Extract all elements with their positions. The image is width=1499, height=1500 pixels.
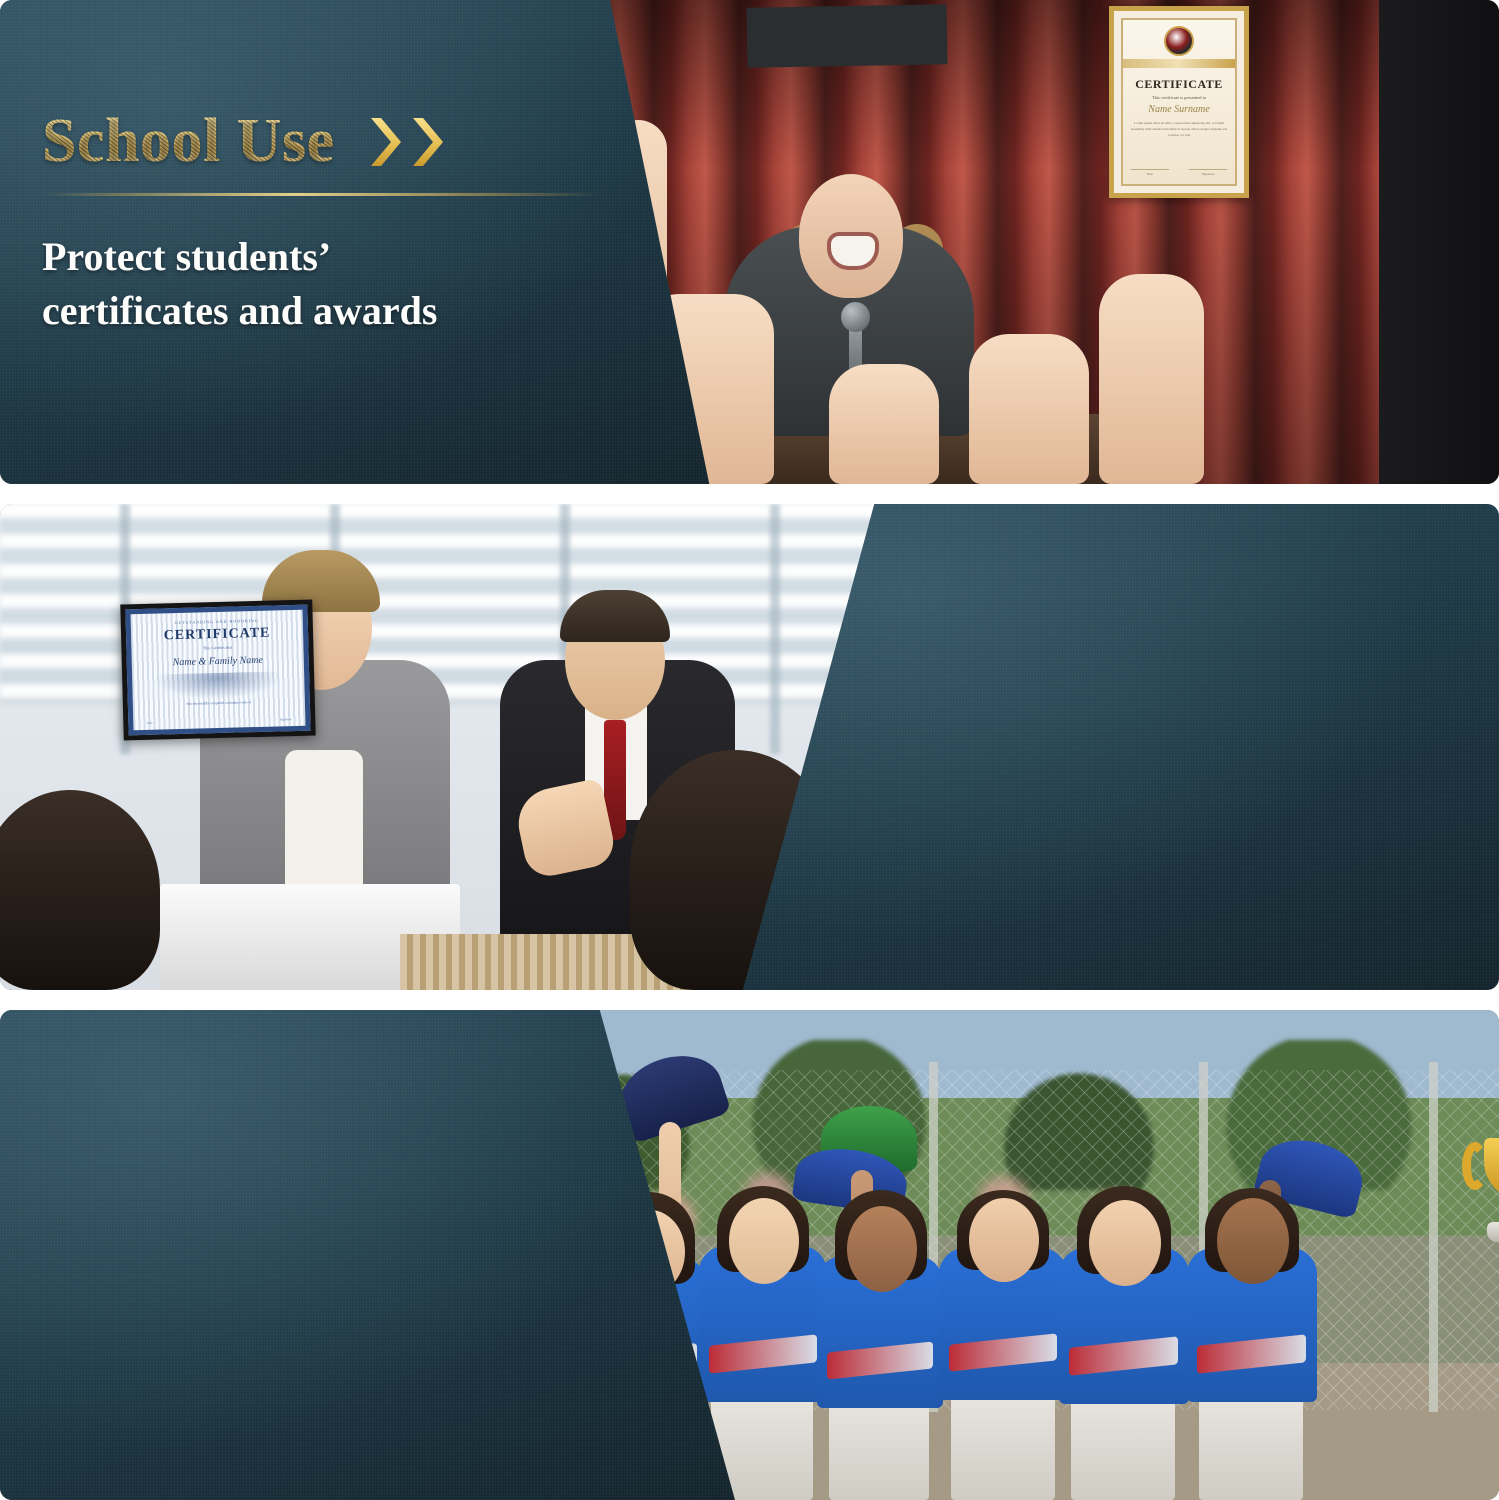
panel-award-use: Award Use Give athletes more encou: [0, 1010, 1499, 1500]
kid-head: [847, 1206, 917, 1292]
kid-head: [729, 1198, 799, 1284]
gold-divider: [42, 193, 602, 196]
school-title: School Use: [42, 110, 335, 173]
certificate-ornament: [154, 671, 282, 700]
audience-hand: [1099, 274, 1204, 484]
certificate-heading: CERTIFICATE: [1135, 77, 1223, 92]
audience-hand: [969, 334, 1089, 484]
foreground-arm: [1379, 0, 1499, 484]
certificate-seal-icon: [1164, 26, 1194, 56]
certificate-presented-line: This certificate is presented to: [1152, 95, 1206, 100]
certificate-footer-right: Signature: [280, 717, 292, 721]
certificate-recipient: Name Surname: [1148, 104, 1209, 115]
chevron-double-right-icon: [369, 116, 451, 168]
audience-hand: [829, 364, 939, 484]
certificate-recipient: Name & Family Name: [173, 655, 264, 668]
certificate-ribbon: [1123, 59, 1235, 68]
gold-certificate: CERTIFICATE This certificate is presente…: [1109, 6, 1249, 198]
panel-business-use: OUTSTANDING AND HONORING CERTIFICATE Thi…: [0, 504, 1499, 990]
fence-post: [1429, 1062, 1438, 1412]
certificate-heading: CERTIFICATE: [164, 626, 271, 645]
certificate-footer-left: Date: [147, 721, 153, 725]
certificate-footer-right: Signature: [1189, 169, 1227, 176]
mortarboard-cap: [746, 4, 947, 67]
certificate-footer-left: Date: [1131, 169, 1169, 176]
certificate-top-line: OUTSTANDING AND HONORING: [175, 618, 259, 625]
school-text-block: School Use Protect students’ certi: [42, 110, 602, 337]
graduate-mouth: [831, 236, 875, 266]
kid-head: [1217, 1198, 1289, 1284]
panel-school-use: CERTIFICATE This certificate is presente…: [0, 0, 1499, 484]
feature-banner-page: CERTIFICATE This certificate is presente…: [0, 0, 1499, 1500]
certificate-body: Lorem ipsum dolor sit amet, consectetuer…: [1130, 121, 1229, 138]
certificate-body: Has successfully completed a training co…: [186, 700, 251, 706]
window-mullion: [770, 504, 780, 754]
school-subtitle: Protect students’ certificates and award…: [42, 230, 602, 337]
kid-head: [969, 1198, 1039, 1282]
blue-certificate: OUTSTANDING AND HONORING CERTIFICATE Thi…: [120, 600, 315, 741]
kid-head: [1089, 1200, 1161, 1286]
certificate-presented-line: This Certifies that: [203, 645, 232, 651]
